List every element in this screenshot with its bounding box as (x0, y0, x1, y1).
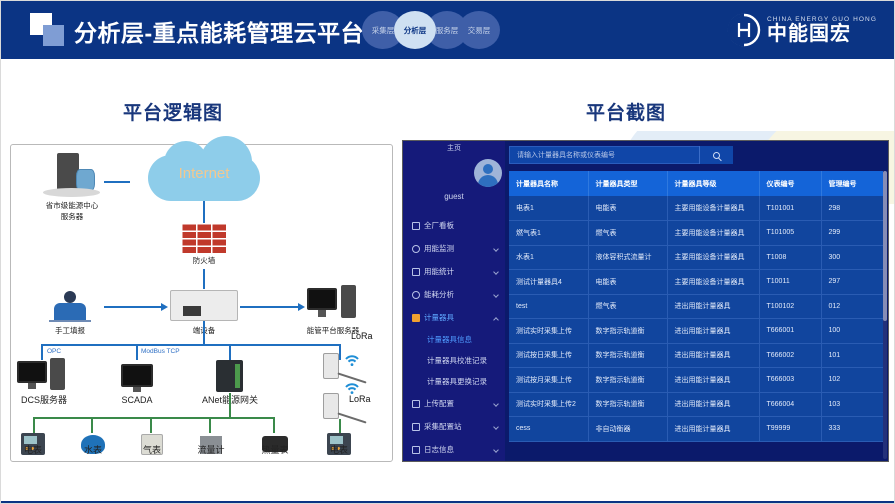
cell-type: 非自动衡器 (588, 417, 667, 442)
manual-entry-body (54, 303, 86, 320)
manual-entry-head (64, 291, 76, 303)
section-title-logic: 平台逻辑图 (123, 98, 223, 125)
link-manual-to-edge (104, 306, 161, 308)
internet-label: Internet (148, 165, 260, 182)
arrow-manual-to-edge (161, 303, 168, 311)
cell-meter-no: T666003 (759, 368, 821, 393)
protocol-modbus-label: ModBus TCP (141, 348, 180, 355)
province-server-label-line2: 服务器 (33, 212, 111, 221)
cell-grade: 进出用能计量器具 (667, 343, 759, 368)
platform-logic-diagram: Internet 省市级能源中心 服务器 防火墙 手工填报 端设备 能管平台服务… (10, 144, 393, 462)
scada-label: SCADA (109, 395, 165, 406)
table-row[interactable]: 测试计量器具4电能表主要用能设备计量器具T10011297 (509, 270, 883, 295)
dcs-tower-icon (50, 358, 65, 390)
sidebar-label-collect-config: 采集配置站 (424, 421, 462, 432)
table-row[interactable]: cess非自动衡器进出用能计量器具T99999333 (509, 417, 883, 442)
link-province-to-internet (104, 181, 130, 183)
meter-table: 计量器具名称 计量器具类型 计量器具等级 仪表编号 管理编号 电表1电能表主要用… (509, 171, 883, 442)
lora-node-bottom-icon (323, 393, 339, 419)
province-server-label-line1: 省市级能源中心 (33, 201, 111, 210)
platform-server-tower-icon (341, 285, 356, 318)
link-internet-to-firewall (203, 201, 205, 223)
lora-node-top-icon (323, 353, 339, 379)
brand-logo-icon (727, 13, 761, 47)
bus-drop-dcs (41, 344, 43, 360)
platform-server-screen (309, 290, 335, 308)
stats-icon (412, 268, 420, 276)
page-title: 分析层-重点能耗管理云平台 (74, 14, 364, 48)
column-header-meter-no[interactable]: 仪表编号 (759, 171, 821, 196)
cell-mgmt-no: 299 (821, 221, 883, 246)
collect-icon (412, 423, 420, 431)
table-row[interactable]: 测试实时采集上传2数字指示轨道衡进出用能计量器具T666004103 (509, 392, 883, 417)
cell-meter-no: T101005 (759, 221, 821, 246)
platform-screenshot: 主页 guest 全厂看板 用能监测 用能统计 能耗分析 (402, 140, 889, 462)
arrow-edge-to-platform (298, 303, 305, 311)
section-title-screenshot: 平台截图 (586, 98, 666, 125)
cell-name: 测试按月采集上传 (509, 368, 588, 393)
table-row[interactable]: 电表1电能表主要用能设备计量器具T101001298 (509, 196, 883, 221)
cell-type: 电能表 (588, 270, 667, 295)
sidebar-item-stats[interactable]: 用能统计 (403, 260, 505, 283)
meter-bus-horizontal (33, 417, 275, 419)
avatar[interactable] (474, 159, 502, 187)
layer-circles: 采集层 分析层 服务层 交易层 (362, 11, 500, 49)
sidebar-item-logs[interactable]: 日志信息 (403, 438, 505, 461)
table-header-row: 计量器具名称 计量器具类型 计量器具等级 仪表编号 管理编号 (509, 171, 883, 196)
cell-name: cess (509, 417, 588, 442)
cell-grade: 主要用能设备计量器具 (667, 196, 759, 221)
sidebar-label-stats: 用能统计 (424, 266, 454, 277)
link-firewall-to-edge (203, 269, 205, 289)
home-tab[interactable]: 主页 (403, 143, 505, 153)
column-header-grade[interactable]: 计量器具等级 (667, 171, 759, 196)
firewall-icon (181, 223, 227, 253)
cell-meter-no: T10011 (759, 270, 821, 295)
bus-drop-scada (136, 344, 138, 360)
table-row[interactable]: 测试实时采集上传数字指示轨道衡进出用能计量器具T666001100 (509, 319, 883, 344)
scada-screen (123, 366, 151, 385)
cell-mgmt-no: 102 (821, 368, 883, 393)
dcs-stand (28, 383, 36, 389)
cell-grade: 主要用能设备计量器具 (667, 221, 759, 246)
lora-signal-top-icon (345, 353, 359, 364)
cell-mgmt-no: 333 (821, 417, 883, 442)
cell-meter-no: T1008 (759, 245, 821, 270)
bus-vertical-from-edge (203, 321, 205, 345)
cell-type: 数字指示轨道衡 (588, 319, 667, 344)
meter-drop-2 (150, 417, 152, 433)
protocol-opc-label: OPC (47, 348, 61, 355)
bus-drop-lora (339, 344, 341, 360)
column-header-name[interactable]: 计量器具名称 (509, 171, 588, 196)
table-row[interactable]: 燃气表1燃气表主要用能设备计量器具T101005299 (509, 221, 883, 246)
cell-grade: 进出用能计量器具 (667, 319, 759, 344)
search-input[interactable]: 请输入计量器具名称或仪表编号 (510, 150, 699, 160)
cell-grade: 进出用能计量器具 (667, 417, 759, 442)
meter-drop-3 (209, 417, 211, 433)
sidebar-subitem-meter-calibration[interactable]: 计量器具校准记录 (403, 350, 505, 371)
meter-drop-0 (33, 417, 35, 433)
cell-meter-no: T666004 (759, 392, 821, 417)
bus-horizontal-main (41, 344, 341, 346)
sidebar-item-monitor[interactable]: 用能监测 (403, 237, 505, 260)
sidebar-item-meters[interactable]: 计量器具 (403, 306, 505, 329)
chevron-down-icon (493, 292, 499, 298)
cell-type: 燃气表 (588, 294, 667, 319)
cell-meter-no: T666001 (759, 319, 821, 344)
cell-grade: 进出用能计量器具 (667, 294, 759, 319)
chevron-down-icon (493, 269, 499, 275)
lora-signal-bottom-icon (345, 381, 359, 392)
edge-device-slot (183, 306, 201, 316)
dashboard-icon (412, 222, 420, 230)
cell-type: 数字指示轨道衡 (588, 343, 667, 368)
meter-drop-1 (91, 417, 93, 433)
app-sidebar: 主页 guest 全厂看板 用能监测 用能统计 能耗分析 (403, 141, 505, 462)
upload-icon (412, 400, 420, 408)
cell-type: 数字指示轨道衡 (588, 368, 667, 393)
sidebar-item-analysis[interactable]: 能耗分析 (403, 283, 505, 306)
chevron-down-icon (493, 447, 499, 453)
anet-gateway-led (235, 364, 240, 388)
chevron-down-icon (493, 246, 499, 252)
logo-square-blue (43, 25, 64, 46)
cell-name: 水表1 (509, 245, 588, 270)
sidebar-label-meters: 计量器具 (424, 312, 454, 323)
column-header-mgmt-no[interactable]: 管理编号 (821, 171, 883, 196)
vertical-scrollbar[interactable] (883, 171, 887, 459)
sidebar-item-collect-config[interactable]: 采集配置站 (403, 415, 505, 438)
scada-stand (133, 387, 141, 392)
chevron-up-icon (493, 317, 499, 323)
cell-name: 电表1 (509, 196, 588, 221)
lora-antenna-bottom (337, 412, 366, 423)
header-logo-mark (30, 13, 68, 47)
username-label: guest (403, 192, 505, 201)
sidebar-item-upload-config[interactable]: 上传配置 (403, 392, 505, 415)
cell-meter-no: T99999 (759, 417, 821, 442)
scrollbar-thumb[interactable] (883, 171, 887, 321)
sidebar-subitem-meter-replacement[interactable]: 计量器具更换记录 (403, 371, 505, 392)
manual-entry-label: 手工填报 (39, 326, 101, 335)
sidebar-label-upload-config: 上传配置 (424, 398, 454, 409)
layer-circle-analysis[interactable]: 分析层 (394, 11, 436, 49)
sidebar-subitem-meter-info[interactable]: 计量器具信息 (403, 329, 505, 350)
search-bar: 请输入计量器具名称或仪表编号 (509, 146, 733, 164)
edge-device-icon (170, 290, 238, 321)
dcs-screen (19, 363, 45, 381)
table-row[interactable]: test燃气表进出用能计量器具T100102012 (509, 294, 883, 319)
cell-type: 电能表 (588, 196, 667, 221)
company-brand: CHINA ENERGY GUO HONG 中能国宏 (727, 11, 877, 49)
dcs-server-label: DCS服务器 (13, 395, 75, 406)
sidebar-label-analysis: 能耗分析 (424, 289, 454, 300)
search-button[interactable] (699, 146, 733, 164)
meter-label-3: 流量计 (187, 445, 235, 456)
cell-type: 数字指示轨道衡 (588, 392, 667, 417)
brand-chinese: 中能国宏 (767, 24, 877, 44)
manual-entry-desk (49, 320, 91, 322)
cell-grade: 主要用能设备计量器具 (667, 245, 759, 270)
monitor-icon (412, 245, 420, 253)
meter-label-0: 电表 (14, 445, 52, 456)
sidebar-item-dashboard[interactable]: 全厂看板 (403, 214, 505, 237)
sidebar-label-logs: 日志信息 (424, 444, 454, 455)
meter-drop-4 (273, 417, 275, 433)
firewall-label: 防火墙 (166, 256, 242, 265)
table-row[interactable]: 水表1液体容积式流量计主要用能设备计量器具T1008300 (509, 245, 883, 270)
province-server-base (43, 188, 100, 197)
app-header: 分析层-重点能耗管理云平台 采集层 分析层 服务层 交易层 CHINA ENER… (0, 0, 895, 59)
cell-type: 燃气表 (588, 221, 667, 246)
search-icon (713, 152, 720, 159)
cell-meter-no: T666002 (759, 343, 821, 368)
cell-grade: 主要用能设备计量器具 (667, 270, 759, 295)
platform-server-stand (318, 310, 326, 317)
cell-name: 测试实时采集上传2 (509, 392, 588, 417)
cell-mgmt-no: 103 (821, 392, 883, 417)
cell-mgmt-no: 101 (821, 343, 883, 368)
bus-drop-gateway (229, 344, 231, 360)
analysis-icon (412, 291, 420, 299)
table-row[interactable]: 测试按日采集上传数字指示轨道衡进出用能计量器具T666002101 (509, 343, 883, 368)
cell-name: 燃气表1 (509, 221, 588, 246)
cell-name: 测试计量器具4 (509, 270, 588, 295)
chevron-down-icon (493, 401, 499, 407)
meter-bus-vertical (229, 393, 231, 418)
table-row[interactable]: 测试按月采集上传数字指示轨道衡进出用能计量器具T666003102 (509, 368, 883, 393)
cell-mgmt-no: 297 (821, 270, 883, 295)
cell-grade: 进出用能计量器具 (667, 368, 759, 393)
chevron-down-icon (493, 424, 499, 430)
link-edge-to-platform (240, 306, 298, 308)
sidebar-label-dashboard: 全厂看板 (424, 220, 454, 231)
column-header-type[interactable]: 计量器具类型 (588, 171, 667, 196)
table-body: 电表1电能表主要用能设备计量器具T101001298燃气表1燃气表主要用能设备计… (509, 196, 883, 441)
meter-label-5: 电表 (320, 445, 358, 456)
log-icon (412, 446, 420, 454)
cell-meter-no: T101001 (759, 196, 821, 221)
sidebar-menu: 全厂看板 用能监测 用能统计 能耗分析 计量器具 计 (403, 214, 505, 461)
app-main: 请输入计量器具名称或仪表编号 计量器具名称 计量器具类型 计量器具等级 仪表编号… (505, 141, 889, 462)
sidebar-label-monitor: 用能监测 (424, 243, 454, 254)
lora-label-top: LoRa (351, 331, 373, 341)
cell-name: test (509, 294, 588, 319)
cell-mgmt-no: 100 (821, 319, 883, 344)
brand-english: CHINA ENERGY GUO HONG (767, 16, 877, 23)
cell-mgmt-no: 298 (821, 196, 883, 221)
cell-name: 测试按日采集上传 (509, 343, 588, 368)
meter-icon (412, 314, 420, 322)
cell-mgmt-no: 012 (821, 294, 883, 319)
meter-label-1: 水表 (74, 445, 112, 456)
meter-label-2: 气表 (133, 445, 171, 456)
cell-type: 液体容积式流量计 (588, 245, 667, 270)
cell-grade: 进出用能计量器具 (667, 392, 759, 417)
meter-label-4: 热量表 (251, 445, 299, 456)
cell-mgmt-no: 300 (821, 245, 883, 270)
cell-meter-no: T100102 (759, 294, 821, 319)
lora-label-bottom: LoRa (349, 394, 371, 404)
cell-name: 测试实时采集上传 (509, 319, 588, 344)
